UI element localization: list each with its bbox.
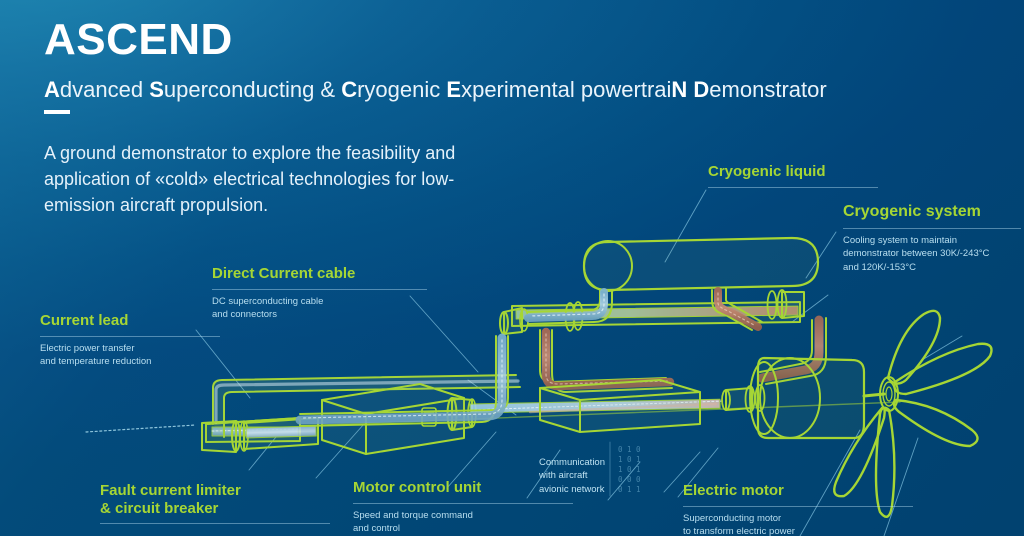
callout-divider (843, 228, 1021, 229)
callout-fault-current-limiter: Fault current limiter & circuit breaker (100, 482, 330, 529)
infographic-canvas: 0 1 0 1 0 1 1 0 1 0 0 0 0 1 1 ASCEND Adv… (0, 0, 1024, 536)
callout-title-electric-motor: Electric motor (683, 482, 913, 500)
callout-communication: Communication with aircraft avionic netw… (539, 456, 659, 496)
page-subtitle: Advanced Superconducting & Cryogenic Exp… (44, 76, 827, 104)
callout-body-direct-current-cable: DC superconducting cable and connectors (212, 295, 427, 322)
callout-cryogenic-liquid: Cryogenic liquid (708, 163, 878, 193)
callout-direct-current-cable: Direct Current cable DC superconducting … (212, 265, 427, 322)
callout-title-cryogenic-system: Cryogenic system (843, 203, 1021, 222)
title-underline-rule (44, 110, 70, 114)
callout-body-current-lead: Electric power transfer and temperature … (40, 342, 220, 369)
callout-divider (683, 506, 913, 507)
callout-title-cryogenic-liquid: Cryogenic liquid (708, 163, 878, 181)
callout-divider (212, 289, 427, 290)
page-title: ASCEND (44, 18, 233, 62)
callout-title-direct-current-cable: Direct Current cable (212, 265, 427, 283)
callout-body-cryogenic-system: Cooling system to maintain demonstrator … (843, 234, 1021, 274)
callout-divider (353, 503, 573, 504)
callout-electric-motor: Electric motor Superconducting motor to … (683, 482, 913, 536)
callout-cryogenic-system: Cryogenic system Cooling system to maint… (843, 203, 1021, 274)
intro-paragraph: A ground demonstrator to explore the fea… (44, 140, 484, 218)
callout-body-electric-motor: Superconducting motor to transform elect… (683, 512, 913, 536)
callout-divider (100, 523, 330, 524)
callout-current-lead: Current lead Electric power transfer and… (40, 312, 220, 369)
text-layer: ASCEND Advanced Superconducting & Cryoge… (0, 0, 1024, 536)
callout-body-motor-control-unit: Speed and torque command and control (353, 509, 573, 536)
callout-divider (708, 187, 878, 188)
callout-divider (40, 336, 220, 337)
callout-title-current-lead: Current lead (40, 312, 220, 330)
callout-body-communication: Communication with aircraft avionic netw… (539, 456, 659, 496)
callout-title-fault-current-limiter: Fault current limiter & circuit breaker (100, 482, 330, 517)
